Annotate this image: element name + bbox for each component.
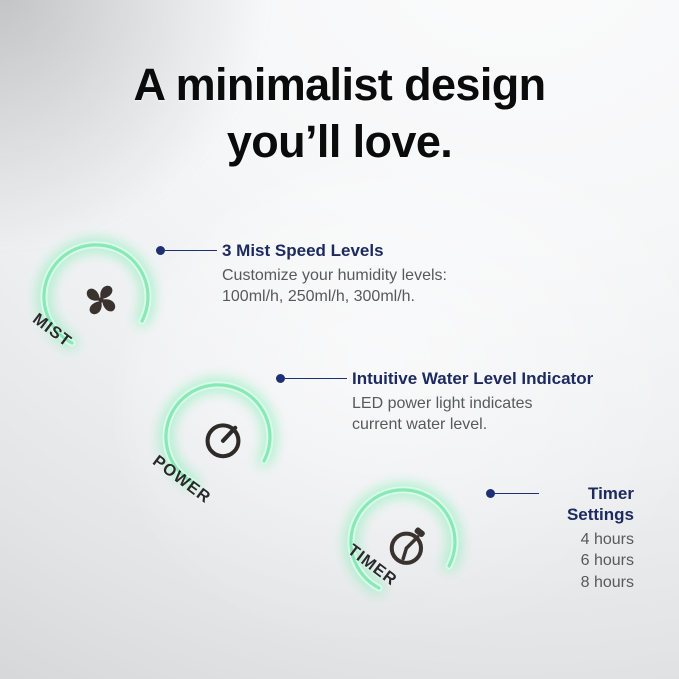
callout-body-water: LED power light indicates current water … [352,393,593,436]
connector-line [495,493,539,495]
callout-body-line: Customize your humidity levels: [222,265,447,286]
callout-timer: Timer Settings 4 hours 6 hours 8 hours [544,483,634,593]
connector-dot [486,489,495,498]
callout-body-mist: Customize your humidity levels: 100ml/h,… [222,265,447,308]
dial-timer[interactable] [345,482,471,608]
callout-mist: 3 Mist Speed Levels Customize your humid… [222,240,447,308]
connector-water [276,374,347,383]
callout-body-line: 100ml/h, 250ml/h, 300ml/h. [222,286,447,307]
callout-body-line: LED power light indicates [352,393,593,414]
callout-title-water: Intuitive Water Level Indicator [352,368,593,389]
connector-mist [156,246,217,255]
callout-body-line: current water level. [352,414,593,435]
connector-line [165,250,217,252]
callout-title-line: Timer [544,483,634,504]
product-infographic: A minimalist design you’ll love. [0,0,679,679]
callout-body-timer: 4 hours 6 hours 8 hours [544,529,634,593]
connector-dot [156,246,165,255]
callout-title-line: Settings [544,504,634,525]
connector-timer [486,489,539,498]
connector-dot [276,374,285,383]
page-title: A minimalist design you’ll love. [0,56,679,170]
callout-body-line: 6 hours [544,550,634,571]
headline-line-1: A minimalist design [133,59,545,110]
callout-body-line: 4 hours [544,529,634,550]
stopwatch-icon [345,482,471,608]
callout-title-timer: Timer Settings [544,483,634,525]
callout-water-level: Intuitive Water Level Indicator LED powe… [352,368,593,436]
headline-line-2: you’ll love. [0,113,679,170]
callout-body-line: 8 hours [544,572,634,593]
callout-title-mist: 3 Mist Speed Levels [222,240,447,261]
connector-line [285,378,347,380]
